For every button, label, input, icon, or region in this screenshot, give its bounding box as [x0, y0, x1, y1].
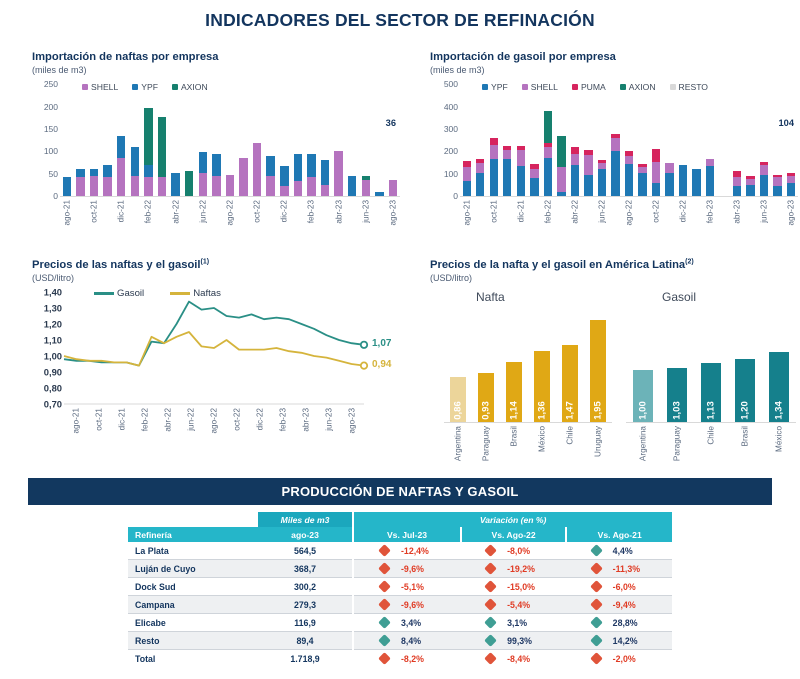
- cell-refineria: La Plata: [128, 542, 258, 560]
- x-tick: Paraguay: [472, 424, 500, 466]
- bar-segment-ypf: [63, 177, 71, 196]
- bar-segment-ypf: [90, 169, 98, 176]
- bar-slot[interactable]: [784, 84, 798, 196]
- panel-title-precios-text: Precios de las naftas y el gasoil: [32, 259, 201, 271]
- table-row[interactable]: Elicabe116,93,4%3,1%28,8%: [128, 614, 672, 632]
- bar-slot[interactable]: [373, 84, 387, 196]
- bar-slot[interactable]: [155, 84, 169, 196]
- latam-bar[interactable]: 1,03: [667, 368, 687, 422]
- cell-ago23: 116,9: [258, 614, 353, 632]
- x-tick: ago-21: [64, 406, 87, 448]
- bar-slot[interactable]: [250, 84, 264, 196]
- bar-slot[interactable]: [386, 84, 400, 196]
- bar-slot[interactable]: [87, 84, 101, 196]
- col-header-vs-ago21[interactable]: Vs. Ago-21: [566, 527, 672, 542]
- bar-segment-ypf: [266, 156, 274, 177]
- bar-slot[interactable]: [182, 84, 196, 196]
- panel-subtitle-latam: (USD/litro): [430, 273, 798, 284]
- bar-slot[interactable]: [318, 84, 332, 196]
- stacked-bar[interactable]: [463, 161, 471, 196]
- bar-segment-axion: [544, 111, 552, 142]
- legend-label: AXION: [181, 82, 208, 92]
- stacked-bar[interactable]: [144, 108, 152, 197]
- bar-slot[interactable]: [541, 84, 555, 196]
- arrow-down-icon: [486, 654, 495, 663]
- x-tick: oct-22: [649, 198, 663, 240]
- cell-vs-jul23: -9,6%: [353, 596, 461, 614]
- cell-ago23: 279,3: [258, 596, 353, 614]
- change-indicator: -8,2%: [354, 654, 461, 664]
- col-header-ago23[interactable]: ago-23: [258, 527, 353, 542]
- bar-segment-shell: [787, 176, 795, 184]
- stacked-bar[interactable]: [321, 160, 329, 196]
- stacked-bar[interactable]: [131, 147, 139, 197]
- col-header-vs-jul23[interactable]: Vs. Jul-23: [353, 527, 461, 542]
- stacked-bar[interactable]: [280, 166, 288, 196]
- latam-bar[interactable]: 0,86: [450, 377, 466, 422]
- x-tick-label: feb-22: [140, 408, 149, 431]
- x-tick-label: jun-23: [361, 200, 370, 223]
- change-value: 3,1%: [507, 618, 541, 628]
- change-value: -12,4%: [401, 546, 435, 556]
- latam-bar-slot[interactable]: 1,34: [762, 314, 796, 422]
- change-value: 14,2%: [613, 636, 647, 646]
- stacked-bar[interactable]: [199, 152, 207, 196]
- stacked-bar[interactable]: [706, 159, 714, 196]
- bar-segment-shell: [253, 143, 261, 196]
- stacked-bar[interactable]: [625, 151, 633, 196]
- group-header-blank: [128, 512, 258, 527]
- legend-label: AXION: [629, 82, 656, 92]
- bar-value-label: 1,03: [672, 402, 683, 421]
- x-tick: oct-21: [487, 198, 501, 240]
- x-tick: ago-23: [386, 198, 400, 240]
- stacked-bar[interactable]: [103, 165, 111, 196]
- x-tick: [663, 198, 677, 240]
- latam-bar[interactable]: 0,93: [478, 373, 494, 422]
- change-indicator: -9,4%: [566, 600, 672, 610]
- stacked-bar[interactable]: [544, 111, 552, 196]
- bar-slot[interactable]: [291, 84, 305, 196]
- stacked-bar[interactable]: [307, 154, 315, 196]
- x-tick: [264, 198, 278, 240]
- bar-segment-axion: [557, 136, 565, 167]
- bar-group: [60, 84, 400, 196]
- group-title-gasoil: Gasoil: [662, 290, 696, 304]
- x-tick: [636, 198, 650, 240]
- bar-slot[interactable]: [345, 84, 359, 196]
- endpoint-marker-naftas: [361, 363, 367, 369]
- stacked-bar[interactable]: [787, 173, 795, 196]
- bar-segment-ypf: [463, 181, 471, 196]
- x-tick: [582, 198, 596, 240]
- stacked-bar[interactable]: [348, 176, 356, 197]
- bar-slot[interactable]: [514, 84, 528, 196]
- x-tick: ago-22: [622, 198, 636, 240]
- stacked-bar[interactable]: [362, 176, 370, 197]
- latam-bar-slot[interactable]: 0,86: [444, 314, 472, 422]
- bar-segment-shell: [158, 177, 166, 196]
- arrow-down-icon: [486, 600, 495, 609]
- x-tick-label: Uruguay: [594, 426, 603, 457]
- stacked-bar[interactable]: [226, 175, 234, 197]
- x-tick: Argentina: [444, 424, 472, 466]
- bar-slot[interactable]: [744, 84, 758, 196]
- bar-segment-ypf: [490, 159, 498, 197]
- x-tick-label: oct-21: [489, 200, 498, 223]
- bar-slot[interactable]: [757, 84, 771, 196]
- table-row[interactable]: Campana279,3-9,6%-5,4%-9,4%: [128, 596, 672, 614]
- latam-bar[interactable]: 1,95: [590, 320, 606, 423]
- stacked-bar[interactable]: [746, 176, 754, 197]
- bar-segment-shell: [266, 176, 274, 196]
- stacked-bar[interactable]: [76, 169, 84, 196]
- bar-slot[interactable]: [474, 84, 488, 196]
- bar-slot[interactable]: [622, 84, 636, 196]
- bar-slot[interactable]: [74, 84, 88, 196]
- legend-item-puma[interactable]: PUMA: [572, 82, 606, 92]
- stacked-bar[interactable]: [760, 162, 768, 196]
- bar-slot[interactable]: [676, 84, 690, 196]
- latam-bar[interactable]: 1,34: [769, 352, 789, 423]
- change-indicator: -19,2%: [461, 564, 567, 574]
- latam-bar[interactable]: 1,36: [534, 351, 550, 423]
- y-tick-label: 50: [49, 169, 58, 179]
- bar-segment-ypf: [787, 183, 795, 196]
- y-tick-label: 300: [444, 124, 458, 134]
- stacked-bar[interactable]: [652, 149, 660, 196]
- stacked-bar[interactable]: [158, 117, 166, 197]
- legend-swatch: [572, 84, 578, 90]
- bar-slot[interactable]: [359, 84, 373, 196]
- footnote-ref-1: (1): [201, 258, 210, 265]
- bar-segment-axion: [185, 171, 193, 197]
- x-tick: oct-22: [226, 406, 249, 448]
- x-tick: dic-21: [514, 198, 528, 240]
- bar-segment-shell: [226, 175, 234, 197]
- change-indicator: -9,6%: [354, 600, 461, 610]
- latam-bar[interactable]: 1,47: [562, 345, 578, 422]
- bar-segment-ypf: [171, 173, 179, 196]
- arrow-up-icon: [486, 618, 495, 627]
- bar-slot[interactable]: [649, 84, 663, 196]
- y-tick-label: 100: [444, 169, 458, 179]
- arrow-up-icon: [380, 618, 389, 627]
- bar-segment-ypf: [679, 165, 687, 196]
- x-tick-label: México: [775, 426, 784, 452]
- x-tick: México: [762, 424, 796, 466]
- x-tick-label: abr-23: [334, 200, 343, 224]
- x-tick: Chile: [556, 424, 584, 466]
- bar-slot[interactable]: [142, 84, 156, 196]
- stacked-bar[interactable]: [571, 147, 579, 196]
- bar-value-label: 1,95: [592, 402, 603, 421]
- bar-slot[interactable]: [305, 84, 319, 196]
- stacked-bar[interactable]: [679, 165, 687, 196]
- bar-slot[interactable]: [730, 84, 744, 196]
- bar-slot[interactable]: [690, 84, 704, 196]
- bar-value-label: 1,47: [564, 402, 575, 421]
- bar-slot[interactable]: [717, 84, 731, 196]
- bar-slot[interactable]: [169, 84, 183, 196]
- stacked-bar[interactable]: [692, 169, 700, 196]
- bar-slot[interactable]: [237, 84, 251, 196]
- stacked-bar[interactable]: [90, 169, 98, 197]
- legend-item-shell[interactable]: SHELL: [522, 82, 558, 92]
- x-tick: [555, 198, 569, 240]
- latam-bar-slot[interactable]: 1,00: [626, 314, 660, 422]
- x-tick: oct-22: [250, 198, 264, 240]
- bar-segment-shell: [103, 177, 111, 196]
- bar-slot[interactable]: [568, 84, 582, 196]
- arrow-down-icon: [592, 582, 601, 591]
- stacked-bar[interactable]: [117, 136, 125, 196]
- production-table: Miles de m3 Variación (en %) Refinería a…: [128, 512, 672, 667]
- x-tick-label: dic-22: [256, 408, 265, 430]
- bar-segment-ypf: [321, 160, 329, 185]
- legend-swatch: [172, 84, 178, 90]
- line-plot-area: [32, 292, 424, 408]
- stacked-bar[interactable]: [253, 143, 261, 196]
- stacked-bar[interactable]: [389, 180, 397, 196]
- x-tick-label: Paraguay: [673, 426, 682, 461]
- stacked-bar[interactable]: [490, 138, 498, 196]
- latam-bar[interactable]: 1,20: [735, 359, 755, 422]
- legend-item-ypf[interactable]: YPF: [132, 82, 158, 92]
- x-tick-label: Brasil: [510, 426, 519, 446]
- bar-segment-shell: [463, 167, 471, 181]
- x-tick: Uruguay: [584, 424, 612, 466]
- x-tick-label: Paraguay: [482, 426, 491, 461]
- stacked-bar[interactable]: [503, 146, 511, 196]
- change-indicator: 3,1%: [461, 618, 567, 628]
- legend-item-resto[interactable]: RESTO: [670, 82, 708, 92]
- table-row[interactable]: La Plata564,5-12,4%-8,0%4,4%: [128, 542, 672, 560]
- change-indicator: 3,4%: [354, 618, 461, 628]
- cell-vs-ago21: 14,2%: [566, 632, 672, 650]
- bar-segment-ypf: [706, 166, 714, 196]
- x-tick: [609, 198, 623, 240]
- stacked-bar[interactable]: [294, 154, 302, 197]
- x-tick-label: jun-23: [760, 200, 769, 223]
- x-axis-gasoil: ArgentinaParaguayChileBrasilMéxico: [626, 424, 796, 466]
- y-axis: 050100150200250: [32, 84, 60, 196]
- cell-vs-ago22: -19,2%: [461, 560, 567, 578]
- bar-slot[interactable]: [501, 84, 515, 196]
- x-tick-label: dic-21: [117, 200, 126, 222]
- latam-bar-slot[interactable]: 0,93: [472, 314, 500, 422]
- x-tick-label: ago-21: [62, 200, 71, 226]
- change-value: -8,0%: [507, 546, 541, 556]
- bar-slot[interactable]: [278, 84, 292, 196]
- x-tick-label: ago-22: [210, 408, 219, 434]
- change-value: -9,6%: [401, 600, 435, 610]
- table-row[interactable]: Total1.718,9-8,2%-8,4%-2,0%: [128, 650, 672, 668]
- bar-slot[interactable]: [101, 84, 115, 196]
- bar-segment-puma: [571, 147, 579, 154]
- change-value: -15,0%: [507, 582, 541, 592]
- stacked-bar[interactable]: [171, 173, 179, 196]
- x-tick-label: feb-23: [279, 408, 288, 431]
- bar-slot[interactable]: [114, 84, 128, 196]
- bar-segment-ypf: [571, 165, 579, 196]
- stacked-bar[interactable]: [266, 156, 274, 197]
- latam-bar-slot[interactable]: 1,36: [528, 314, 556, 422]
- stacked-bar[interactable]: [598, 160, 606, 197]
- x-tick: dic-22: [249, 406, 272, 448]
- latam-bar-slot[interactable]: 1,14: [500, 314, 528, 422]
- legend-item-naftas[interactable]: Naftas: [170, 288, 221, 299]
- chart-legend: YPFSHELLPUMAAXIONRESTO: [482, 82, 708, 92]
- bar-slot[interactable]: [595, 84, 609, 196]
- bar-slot[interactable]: [128, 84, 142, 196]
- chart-latam: NaftaGasoil0,860,931,141,361,471,95Argen…: [430, 292, 798, 462]
- chart-naftas-import: 050100150200250SHELLYPFAXION36ago-21oct-…: [32, 84, 400, 244]
- latam-bar-slot[interactable]: 1,20: [728, 314, 762, 422]
- change-indicator: 28,8%: [566, 618, 672, 628]
- latam-bar[interactable]: 1,13: [701, 363, 721, 423]
- legend-item-shell[interactable]: SHELL: [82, 82, 118, 92]
- stacked-bar[interactable]: [665, 163, 673, 197]
- cell-vs-jul23: 3,4%: [353, 614, 461, 632]
- x-tick: [318, 198, 332, 240]
- bar-slot[interactable]: [460, 84, 474, 196]
- chart-precios: 0,700,800,901,001,101,201,301,401,070,94…: [32, 292, 420, 452]
- latam-bar-slot[interactable]: 1,47: [556, 314, 584, 422]
- latam-bar-slot[interactable]: 1,03: [660, 314, 694, 422]
- bar-slot[interactable]: [528, 84, 542, 196]
- table-row[interactable]: Luján de Cuyo368,7-9,6%-19,2%-11,3%: [128, 560, 672, 578]
- bar-segment-shell: [530, 169, 538, 178]
- change-indicator: -5,1%: [354, 582, 461, 592]
- bar-slot[interactable]: [609, 84, 623, 196]
- bar-segment-ypf: [544, 158, 552, 196]
- bar-segment-ypf: [584, 175, 592, 196]
- bar-slot[interactable]: [487, 84, 501, 196]
- stacked-bar[interactable]: [773, 175, 781, 196]
- bar-slot[interactable]: [264, 84, 278, 196]
- x-tick-label: jun-22: [186, 408, 195, 431]
- x-tick: Paraguay: [660, 424, 694, 466]
- x-tick-label: Chile: [566, 426, 575, 445]
- x-tick-label: feb-22: [543, 200, 552, 223]
- bar-segment-ypf: [117, 136, 125, 158]
- cell-refineria: Resto: [128, 632, 258, 650]
- bar-value-label: 0,86: [452, 402, 463, 421]
- bar-slot[interactable]: [771, 84, 785, 196]
- x-tick: [291, 198, 305, 240]
- bar-value-label: 1,20: [740, 402, 751, 421]
- production-banner: PRODUCCIÓN DE NAFTAS Y GASOIL: [28, 478, 772, 505]
- x-tick: Brasil: [500, 424, 528, 466]
- col-header-refineria[interactable]: Refinería: [128, 527, 258, 542]
- latam-bar[interactable]: 1,00: [633, 370, 653, 423]
- stacked-bar[interactable]: [375, 192, 383, 196]
- bar-segment-shell: [131, 176, 139, 196]
- bar-slot[interactable]: [332, 84, 346, 196]
- x-tick-label: Argentina: [454, 426, 463, 461]
- legend-item-gasoil[interactable]: Gasoil: [94, 288, 144, 299]
- cell-vs-ago21: 28,8%: [566, 614, 672, 632]
- x-tick-label: jun-22: [198, 200, 207, 223]
- bar-slot[interactable]: [582, 84, 596, 196]
- stacked-bar[interactable]: [212, 154, 220, 197]
- arrow-up-icon: [592, 546, 601, 555]
- bar-slot[interactable]: [210, 84, 224, 196]
- latam-bar-slot[interactable]: 1,95: [584, 314, 612, 422]
- latam-bar-slot[interactable]: 1,13: [694, 314, 728, 422]
- x-tick: [101, 198, 115, 240]
- table-row[interactable]: Resto89,48,4%99,3%14,2%: [128, 632, 672, 650]
- bar-segment-ypf: [307, 154, 315, 177]
- legend-item-axion[interactable]: AXION: [172, 82, 208, 92]
- stacked-bar[interactable]: [334, 151, 342, 196]
- stacked-bar[interactable]: [733, 171, 741, 196]
- bar-slot[interactable]: [196, 84, 210, 196]
- cell-refineria: Dock Sud: [128, 578, 258, 596]
- bar-slot[interactable]: [703, 84, 717, 196]
- stacked-bar[interactable]: [476, 159, 484, 196]
- table-row[interactable]: Dock Sud300,2-5,1%-15,0%-6,0%: [128, 578, 672, 596]
- footnote-ref-2: (2): [685, 258, 694, 265]
- x-tick-label: feb-23: [706, 200, 715, 223]
- cell-vs-ago22: -8,4%: [461, 650, 567, 668]
- bar-slot[interactable]: [636, 84, 650, 196]
- bar-segment-shell: [334, 151, 342, 196]
- legend-item-axion[interactable]: AXION: [620, 82, 656, 92]
- bar-segment-shell: [294, 181, 302, 197]
- x-tick-label: abr-22: [163, 408, 172, 432]
- bar-slot[interactable]: [663, 84, 677, 196]
- col-header-vs-ago22[interactable]: Vs. Ago-22: [461, 527, 567, 542]
- bar-segment-shell: [503, 150, 511, 159]
- stacked-bar[interactable]: [63, 177, 71, 196]
- bar-segment-shell: [212, 176, 220, 197]
- stacked-bar[interactable]: [611, 134, 619, 197]
- arrow-up-icon: [486, 636, 495, 645]
- x-tick: Chile: [694, 424, 728, 466]
- legend-item-ypf[interactable]: YPF: [482, 82, 508, 92]
- x-tick-label: Brasil: [741, 426, 750, 446]
- bar-segment-shell: [773, 177, 781, 186]
- stacked-bar[interactable]: [584, 150, 592, 196]
- cell-vs-jul23: 8,4%: [353, 632, 461, 650]
- panel-precios: Precios de las naftas y el gasoil(1) (US…: [32, 258, 420, 463]
- bar-value-label: 1,13: [706, 402, 717, 421]
- arrow-down-icon: [592, 564, 601, 573]
- change-value: 3,4%: [401, 618, 435, 628]
- bar-segment-shell: [90, 176, 98, 197]
- x-tick-label: oct-22: [651, 200, 660, 223]
- table-head: Miles de m3 Variación (en %) Refinería a…: [128, 512, 672, 542]
- stacked-bar[interactable]: [239, 158, 247, 196]
- stacked-bar[interactable]: [185, 171, 193, 197]
- table-body: La Plata564,5-12,4%-8,0%4,4%Luján de Cuy…: [128, 542, 672, 667]
- x-tick: oct-21: [87, 198, 101, 240]
- bar-slot[interactable]: [555, 84, 569, 196]
- x-tick-label: oct-22: [233, 408, 242, 431]
- bar-slot[interactable]: [60, 84, 74, 196]
- bar-slot[interactable]: [223, 84, 237, 196]
- table-group-header-row: Miles de m3 Variación (en %): [128, 512, 672, 527]
- stacked-bar[interactable]: [530, 164, 538, 196]
- stacked-bar[interactable]: [638, 164, 646, 196]
- stacked-bar[interactable]: [557, 136, 565, 196]
- stacked-bar[interactable]: [517, 146, 525, 197]
- latam-bar[interactable]: 1,14: [506, 362, 522, 422]
- x-tick-label: ago-22: [624, 200, 633, 226]
- x-tick: jun-23: [359, 198, 373, 240]
